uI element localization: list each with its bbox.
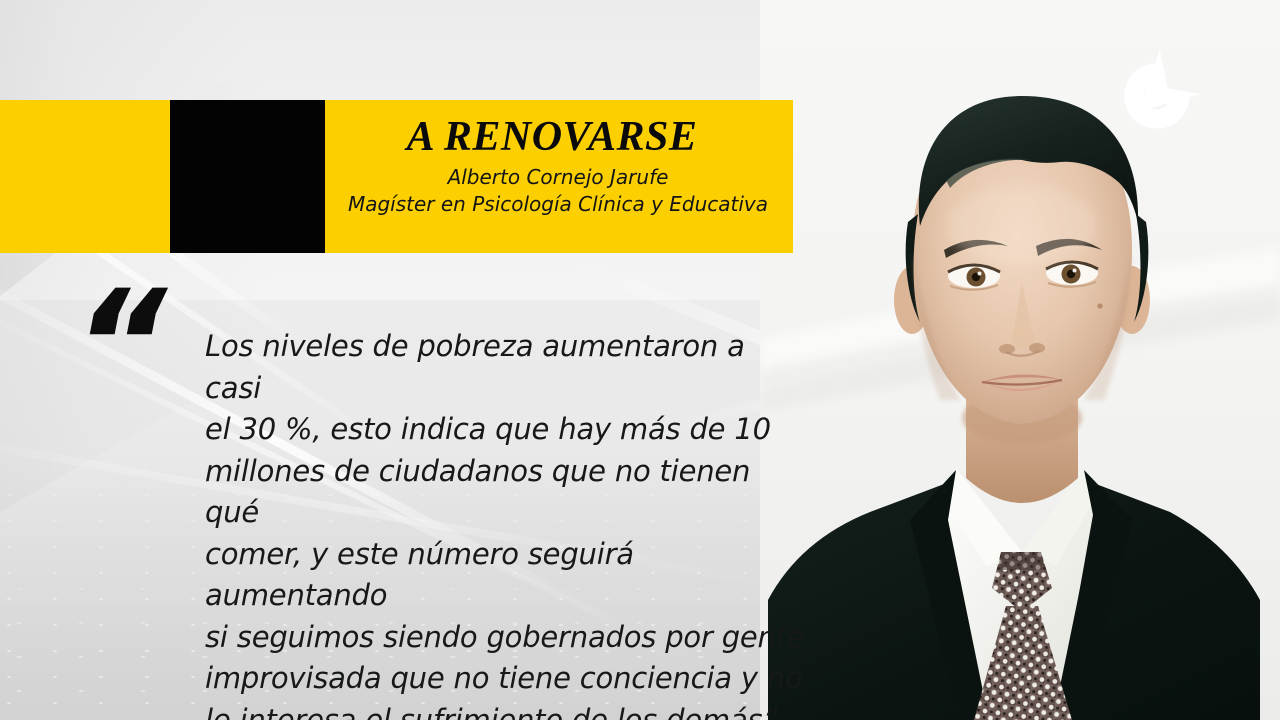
open-quote-icon: “ (62, 296, 176, 396)
circular-arrow-logo-icon (1107, 48, 1203, 144)
author-name: Alberto Cornejo Jarufe (333, 164, 793, 191)
quote-card-slide: A RENOVARSE Alberto Cornejo Jarufe Magís… (0, 0, 1280, 720)
author-role: Magíster en Psicología Clínica y Educati… (333, 191, 793, 218)
header-black-block (170, 100, 325, 253)
page-title: A RENOVARSE (333, 114, 793, 160)
header-text-group: A RENOVARSE Alberto Cornejo Jarufe Magís… (333, 100, 793, 253)
quote-body: Los niveles de pobreza aumentaron a casi… (205, 326, 805, 720)
